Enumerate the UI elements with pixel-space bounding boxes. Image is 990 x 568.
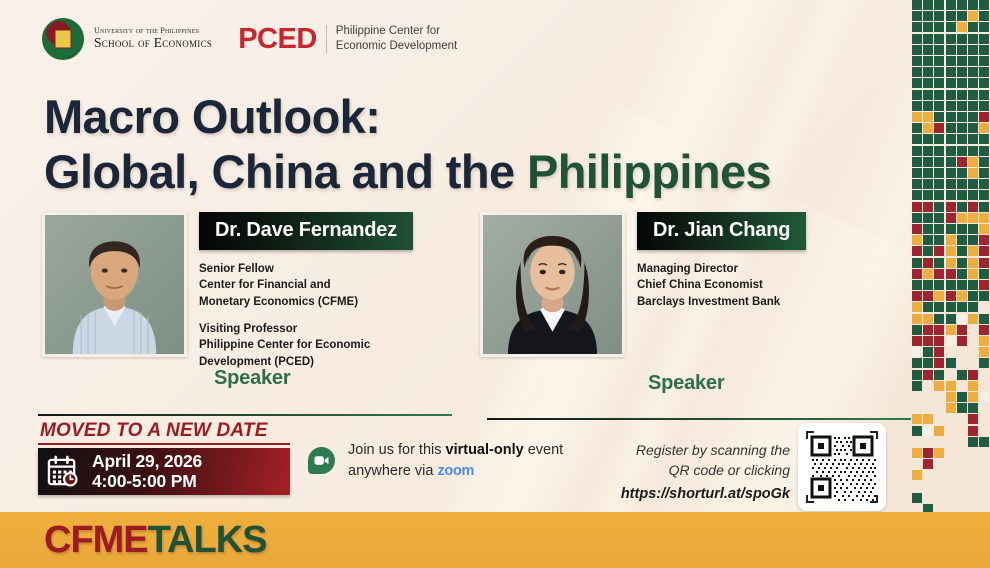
event-poster: University of the Philippines School of … <box>0 0 990 568</box>
speaker-photo-dave-fernandez <box>42 212 187 357</box>
pced-wordmark: PCED <box>238 25 317 54</box>
speaker-role-1-line4: Visiting Professor <box>199 321 413 337</box>
register-line1: Register by scanning the <box>560 440 790 460</box>
footer-bar: CFMETALKS <box>0 512 990 568</box>
title-line-2-dark: Global, China and the <box>44 145 527 198</box>
title-line-2-green: Philippines <box>527 145 771 198</box>
event-time: 4:00-5:00 PM <box>92 472 202 492</box>
registration-url-link[interactable]: https://shorturl.at/spoGk <box>560 484 790 505</box>
up-logo-line2: School of Economics <box>94 36 212 51</box>
up-school-of-economics-logo: University of the Philippines School of … <box>42 18 212 60</box>
speaker-role-1-line1: Senior Fellow <box>199 261 413 277</box>
title-line-1: Macro Outlook: <box>44 90 771 145</box>
speaker-role-1: Senior Fellow Center for Financial and M… <box>199 261 413 370</box>
cfme-talks-brand: CFMETALKS <box>44 519 267 562</box>
speaker-role-2-line2: Chief China Economist <box>637 277 806 293</box>
event-date-box: April 29, 2026 4:00-5:00 PM <box>38 448 290 495</box>
virtual-text-post: event <box>524 442 564 458</box>
register-line2: QR code or clicking <box>560 460 790 480</box>
speaker-label-2: Speaker <box>648 372 724 395</box>
decorative-mosaic <box>912 0 990 518</box>
speaker-card-1: Dr. Dave Fernandez Senior Fellow Center … <box>42 212 413 370</box>
up-seal-icon <box>42 18 84 60</box>
speaker-role-2-line3: Barclays Investment Bank <box>637 294 806 310</box>
moved-date-notice: MOVED TO A NEW DATE <box>40 420 268 442</box>
speaker-label-1: Speaker <box>214 367 290 390</box>
pced-subtitle-line2: Economic Development <box>336 39 457 54</box>
speaker-name-plate-1: Dr. Dave Fernandez <box>199 212 413 250</box>
header-logos: University of the Philippines School of … <box>42 18 457 60</box>
zoom-brand-label: zoom <box>437 463 474 479</box>
title-line-2: Global, China and the Philippines <box>44 145 771 200</box>
speaker-role-1-line2: Center for Financial and <box>199 277 413 293</box>
virtual-text-line2: anywhere via <box>348 463 437 479</box>
video-camera-icon <box>308 447 335 474</box>
virtual-only-emphasis: virtual-only <box>446 442 524 458</box>
speaker-role-2-line1: Managing Director <box>637 261 806 277</box>
qr-code-icon[interactable] <box>798 423 886 511</box>
brand-cfme: CFME <box>44 519 148 561</box>
moved-date-underline <box>38 443 290 445</box>
brand-talks: TALKS <box>148 519 267 561</box>
speaker-role-1-line5: Philippine Center for Economic <box>199 337 413 353</box>
divider-left <box>38 414 452 416</box>
speaker-photo-jian-chang <box>480 212 625 357</box>
divider-right <box>487 418 911 420</box>
speaker-name-plate-2: Dr. Jian Chang <box>637 212 806 250</box>
virtual-text-pre: Join us for this <box>348 442 446 458</box>
pced-subtitle-line1: Philippine Center for <box>336 24 457 39</box>
pced-logo: PCED Philippine Center for Economic Deve… <box>238 24 457 53</box>
page-title: Macro Outlook: Global, China and the Phi… <box>44 90 771 199</box>
register-instructions: Register by scanning the QR code or clic… <box>560 440 790 505</box>
speaker-card-2: Dr. Jian Chang Managing Director Chief C… <box>480 212 806 357</box>
virtual-event-block: Join us for this virtual-only event anyw… <box>308 440 563 481</box>
calendar-clock-icon <box>47 455 80 488</box>
event-date: April 29, 2026 <box>92 452 202 472</box>
pced-divider <box>326 25 327 53</box>
speaker-role-2: Managing Director Chief China Economist … <box>637 261 806 310</box>
speaker-role-1-line3: Monetary Economics (CFME) <box>199 294 413 310</box>
